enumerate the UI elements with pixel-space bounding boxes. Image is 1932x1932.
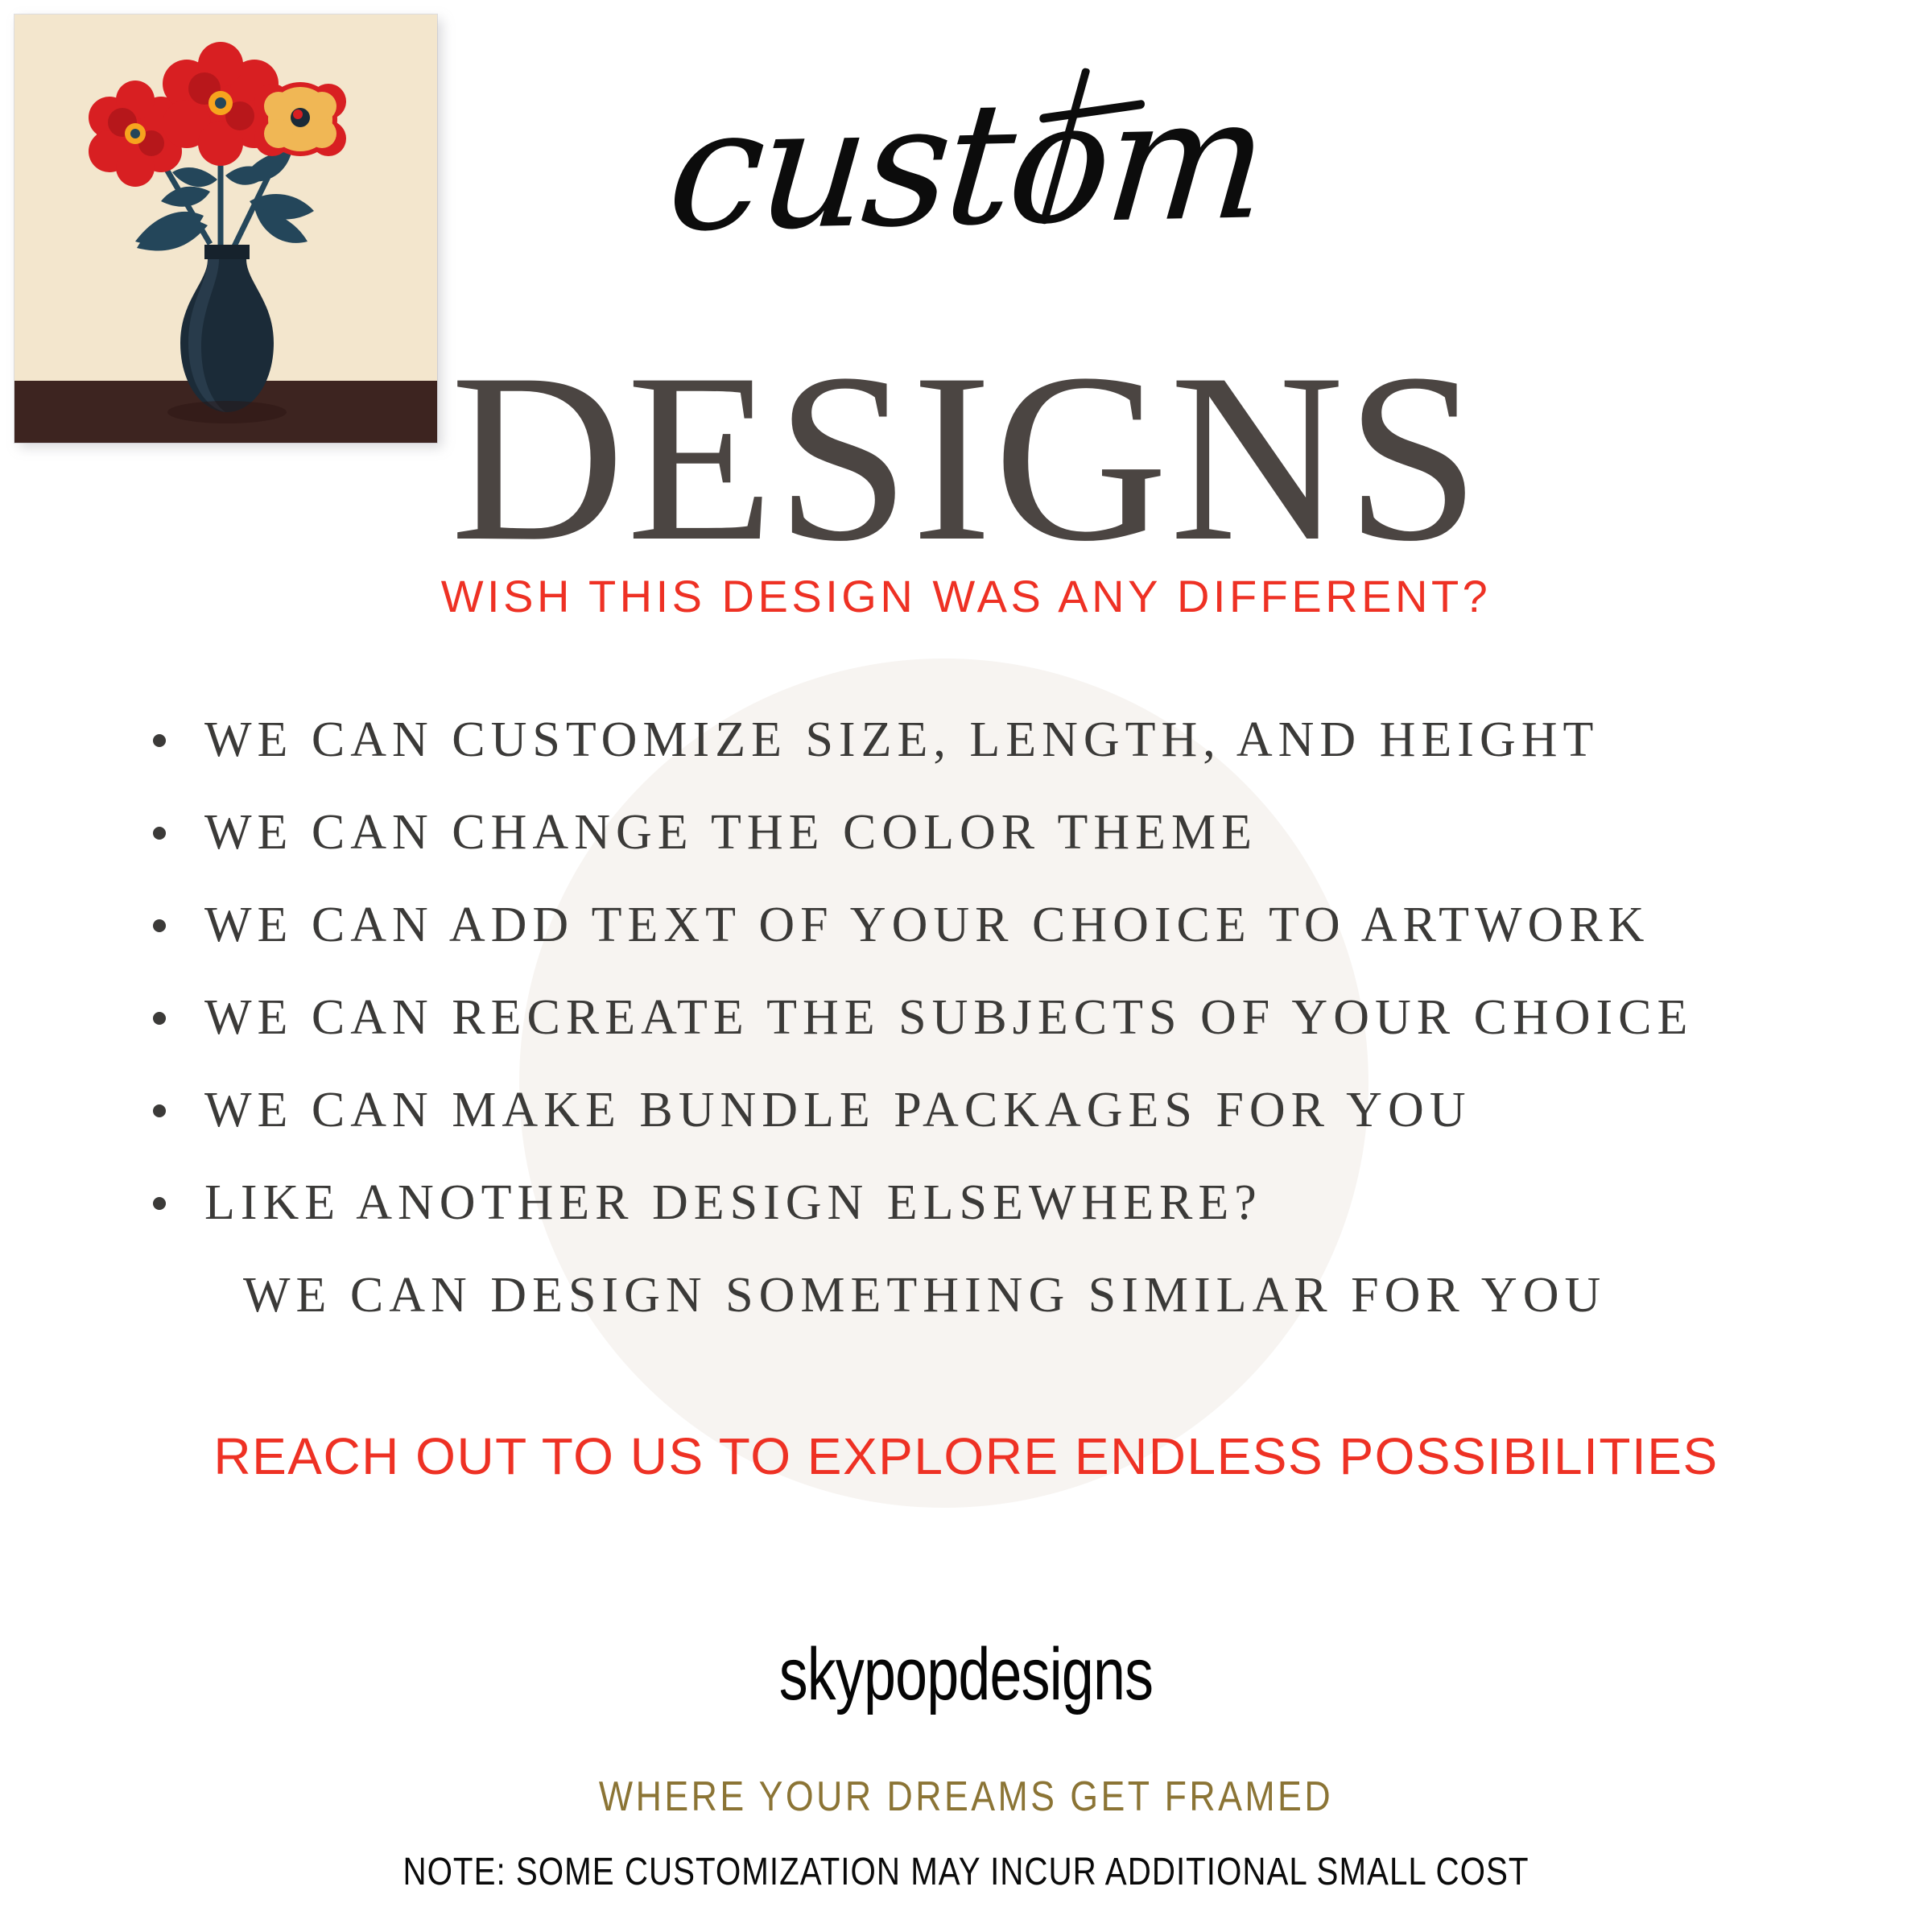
bullet-dot-icon	[153, 827, 166, 840]
bullet-dot-icon	[153, 1197, 166, 1210]
list-item-label: LIKE ANOTHER DESIGN ELSEWHERE?	[204, 1175, 1262, 1230]
footnote-text: NOTE: SOME CUSTOMIZATION MAY INCUR ADDIT…	[155, 1853, 1777, 1892]
benefits-list: WE CAN CUSTOMIZE SIZE, LENGTH, AND HEIGH…	[153, 694, 1811, 1342]
bullet-dot-icon	[153, 1012, 166, 1025]
list-item-label: WE CAN MAKE BUNDLE PACKAGES FOR YOU	[204, 1083, 1472, 1137]
list-item-label: WE CAN ADD TEXT OF YOUR CHOICE TO ARTWOR…	[204, 898, 1649, 952]
list-item-label: WE CAN DESIGN SOMETHING SIMILAR FOR YOU	[243, 1268, 1606, 1323]
poster-canvas: custom DESIGNS WISH THIS DESIGN WAS ANY …	[0, 0, 1932, 1932]
list-item-label: WE CAN RECREATE THE SUBJECTS OF YOUR CHO…	[204, 990, 1693, 1045]
list-item: WE CAN CUSTOMIZE SIZE, LENGTH, AND HEIGH…	[153, 694, 1811, 786]
list-item-label: WE CAN CHANGE THE COLOR THEME	[204, 805, 1257, 860]
list-item: WE CAN MAKE BUNDLE PACKAGES FOR YOU	[153, 1064, 1811, 1157]
list-item: LIKE ANOTHER DESIGN ELSEWHERE?	[153, 1157, 1811, 1249]
list-item-label: WE CAN CUSTOMIZE SIZE, LENGTH, AND HEIGH…	[204, 712, 1599, 767]
brand-name: skypopdesigns	[213, 1637, 1719, 1711]
list-item: WE CAN CHANGE THE COLOR THEME	[153, 786, 1811, 879]
bullet-dot-icon	[153, 1104, 166, 1117]
bullet-dot-icon	[153, 919, 166, 932]
list-item: WE CAN RECREATE THE SUBJECTS OF YOUR CHO…	[153, 972, 1811, 1064]
subtitle-question: WISH THIS DESIGN WAS ANY DIFFERENT?	[0, 574, 1932, 619]
list-item: WE CAN ADD TEXT OF YOUR CHOICE TO ARTWOR…	[153, 879, 1811, 972]
script-title-text: custom	[662, 60, 1271, 269]
page-title: DESIGNS	[0, 336, 1932, 578]
bullet-dot-icon	[153, 734, 166, 747]
call-to-action-text: REACH OUT TO US TO EXPLORE ENDLESS POSSI…	[0, 1430, 1932, 1482]
brand-tagline: WHERE YOUR DREAMS GET FRAMED	[135, 1776, 1797, 1818]
list-item-continuation: WE CAN DESIGN SOMETHING SIMILAR FOR YOU	[153, 1249, 1811, 1342]
